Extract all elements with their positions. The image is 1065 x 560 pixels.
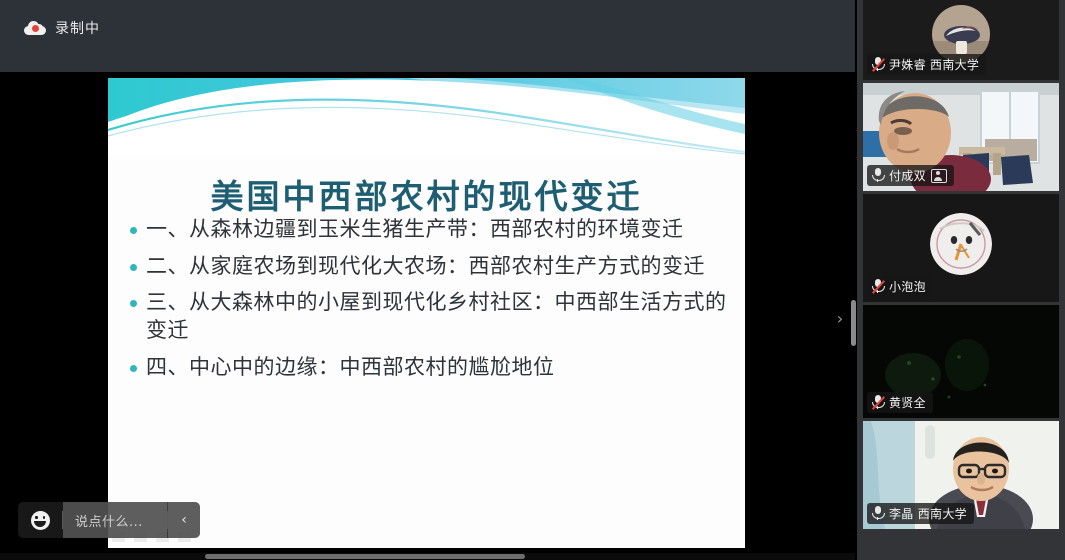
recording-label: 录制中 [55, 18, 100, 38]
participant-name: 小泡泡 [889, 278, 926, 295]
slide-wave-decoration [108, 78, 745, 156]
cloud-record-icon [24, 21, 46, 35]
participant-name-tag: 李晶 西南大学 [867, 503, 974, 524]
participant-tile-active-speaker[interactable]: 李晶 西南大学 [863, 421, 1059, 529]
horizontal-scrollbar-track[interactable] [0, 553, 855, 560]
emoji-button[interactable] [18, 502, 62, 538]
participant-name-tag: 小泡泡 [867, 276, 933, 297]
bullet-text: 一、从森林边疆到玉米生猪生产带：西部农村的环境变迁 [146, 216, 684, 244]
list-item: 四、中心中的边缘：中西部农村的尴尬地位 [130, 354, 730, 382]
presentation-slide: 美国中西部农村的现代变迁 一、从森林边疆到玉米生猪生产带：西部农村的环境变迁 二… [108, 78, 745, 548]
smiley-icon [31, 511, 50, 530]
list-item: 三、从大森林中的小屋到现代化乡村社区：中西部生活方式的变迁 [130, 289, 730, 344]
list-item: 一、从森林边疆到玉米生猪生产带：西部农村的环境变迁 [130, 216, 730, 244]
bullet-text: 二、从家庭农场到现代化大农场：西部农村生产方式的变迁 [146, 253, 705, 281]
avatar [930, 213, 992, 275]
mic-muted-icon [871, 279, 884, 294]
bullet-dot-icon [130, 264, 137, 271]
recording-bar: 录制中 [0, 0, 855, 72]
participant-name-tag: 黄贤全 [867, 392, 933, 413]
mic-muted-icon [871, 395, 884, 410]
mic-muted-icon [871, 57, 884, 72]
horizontal-scrollbar-thumb[interactable] [205, 554, 525, 559]
shared-screen-stage: 美国中西部农村的现代变迁 一、从森林边疆到玉米生猪生产带：西部农村的环境变迁 二… [0, 72, 855, 560]
video-on-badge-icon [931, 169, 947, 183]
chevron-left-icon[interactable]: ‹ [168, 502, 200, 538]
slide-bullet-list: 一、从森林边疆到玉米生猪生产带：西部农村的环境变迁 二、从家庭农场到现代化大农场… [130, 216, 730, 391]
participant-name-tag: 尹姝睿 西南大学 [867, 54, 986, 75]
bullet-dot-icon [130, 300, 137, 307]
bullet-text: 四、中心中的边缘：中西部农村的尴尬地位 [146, 354, 555, 382]
bullet-dot-icon [130, 365, 137, 372]
participant-tile[interactable]: 小泡泡 [863, 194, 1059, 302]
participant-name: 尹姝睿 西南大学 [889, 56, 979, 73]
chat-message-input[interactable]: 说点什么... [63, 502, 167, 538]
chevron-right-icon[interactable]: › [832, 305, 848, 331]
participant-name: 黄贤全 [889, 394, 926, 411]
list-item: 二、从家庭农场到现代化大农场：西部农村生产方式的变迁 [130, 253, 730, 281]
participant-tile[interactable]: 尹姝睿 西南大学 [863, 0, 1059, 80]
bullet-dot-icon [130, 227, 137, 234]
recording-indicator: 录制中 [24, 18, 100, 38]
participant-tile[interactable]: 黄贤全 [863, 305, 1059, 418]
bullet-text: 三、从大森林中的小屋到现代化乡村社区：中西部生活方式的变迁 [146, 289, 730, 344]
participant-tile[interactable]: 付成双 [863, 83, 1059, 191]
participant-name: 李晶 西南大学 [889, 505, 967, 522]
chat-input-bar[interactable]: 说点什么... ‹ [18, 502, 200, 538]
participant-name-tag: 付成双 [867, 165, 954, 186]
mic-unmuted-icon [871, 168, 884, 183]
participant-rail-scrollbar[interactable] [851, 300, 856, 346]
meeting-window: 录制中 [0, 0, 1065, 560]
participant-name: 付成双 [889, 167, 926, 184]
slide-title: 美国中西部农村的现代变迁 [108, 170, 745, 218]
mic-unmuted-icon [871, 506, 884, 521]
participant-rail[interactable]: 尹姝睿 西南大学 [857, 0, 1065, 560]
